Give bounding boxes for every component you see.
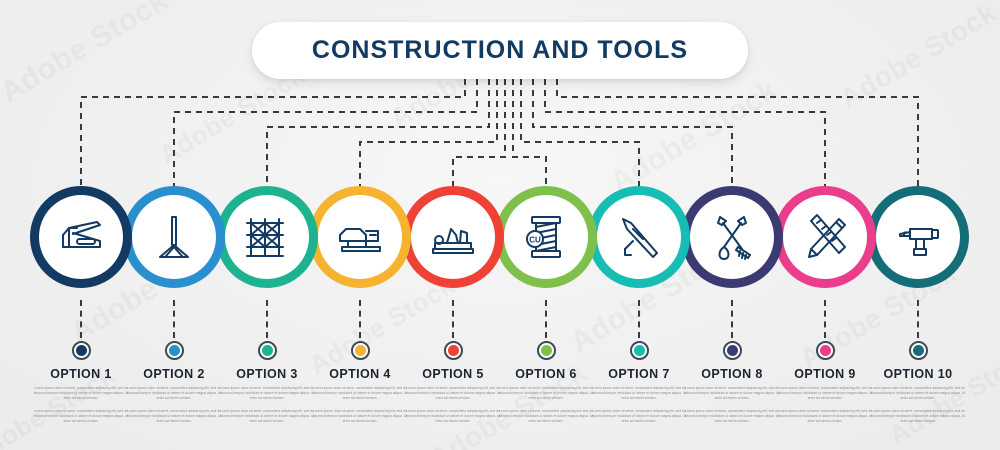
marker-stem — [731, 300, 733, 338]
option-label-3: OPTION 3 — [236, 367, 298, 381]
connector-to-node-10 — [557, 79, 918, 186]
description-paragraph: Lorem ipsum dolor sit amet, consectetur … — [870, 409, 966, 424]
status-marker-10[interactable] — [909, 341, 928, 360]
option-label-8: OPTION 8 — [701, 367, 763, 381]
description-paragraph: Lorem ipsum dolor sit amet, consectetur … — [498, 386, 594, 401]
description-column-2: Lorem ipsum dolor sit amet, consectetur … — [126, 386, 222, 433]
description-column-1: Lorem ipsum dolor sit amet, consectetur … — [33, 386, 129, 433]
description-column-4: Lorem ipsum dolor sit amet, consectetur … — [312, 386, 408, 433]
icon-node-4[interactable] — [309, 186, 411, 288]
cordless-drill-icon — [890, 209, 946, 265]
marker-stem — [545, 300, 547, 338]
description-paragraph: Lorem ipsum dolor sit amet, consectetur … — [312, 386, 408, 401]
status-marker-9[interactable] — [816, 341, 835, 360]
soldering-iron-icon — [611, 209, 667, 265]
option-label-6: OPTION 6 — [515, 367, 577, 381]
description-paragraph: Lorem ipsum dolor sit amet, consectetur … — [219, 409, 315, 424]
marker-stem — [638, 300, 640, 338]
icon-node-3[interactable] — [216, 186, 318, 288]
description-paragraph: Lorem ipsum dolor sit amet, consectetur … — [312, 409, 408, 424]
copper-wire-spool-icon: CU — [518, 209, 574, 265]
marker-stem — [173, 300, 175, 338]
status-marker-3[interactable] — [258, 341, 277, 360]
description-paragraph: Lorem ipsum dolor sit amet, consectetur … — [591, 409, 687, 424]
description-paragraph: Lorem ipsum dolor sit amet, consectetur … — [33, 386, 129, 401]
status-marker-6[interactable] — [537, 341, 556, 360]
icon-node-10[interactable] — [867, 186, 969, 288]
option-column-1: OPTION 1 — [33, 300, 129, 381]
description-column-10: Lorem ipsum dolor sit amet, consectetur … — [870, 386, 966, 433]
connector-to-node-3 — [267, 79, 489, 186]
status-marker-8[interactable] — [723, 341, 742, 360]
marker-stem — [452, 300, 454, 338]
marker-stem — [359, 300, 361, 338]
connector-to-node-9 — [545, 79, 825, 186]
connector-to-node-7 — [521, 79, 639, 186]
icon-node-9[interactable] — [774, 186, 876, 288]
status-marker-5[interactable] — [444, 341, 463, 360]
marker-stem — [80, 300, 82, 338]
marker-stem — [917, 300, 919, 338]
option-label-2: OPTION 2 — [143, 367, 205, 381]
description-paragraph: Lorem ipsum dolor sit amet, consectetur … — [591, 386, 687, 401]
description-column-9: Lorem ipsum dolor sit amet, consectetur … — [777, 386, 873, 433]
option-column-10: OPTION 10 — [870, 300, 966, 381]
shovel-and-rake-icon — [704, 209, 760, 265]
description-column-6: Lorem ipsum dolor sit amet, consectetur … — [498, 386, 594, 433]
svg-text:CU: CU — [529, 236, 541, 245]
description-column-3: Lorem ipsum dolor sit amet, consectetur … — [219, 386, 315, 433]
icon-node-7[interactable] — [588, 186, 690, 288]
description-paragraph: Lorem ipsum dolor sit amet, consectetur … — [498, 409, 594, 424]
option-column-3: OPTION 3 — [219, 300, 315, 381]
option-label-10: OPTION 10 — [884, 367, 953, 381]
option-column-8: OPTION 8 — [684, 300, 780, 381]
option-column-4: OPTION 4 — [312, 300, 408, 381]
staple-gun-icon — [53, 209, 109, 265]
option-label-1: OPTION 1 — [50, 367, 112, 381]
description-column-8: Lorem ipsum dolor sit amet, consectetur … — [684, 386, 780, 433]
description-paragraph: Lorem ipsum dolor sit amet, consectetur … — [126, 386, 222, 401]
icon-node-row: CU — [0, 186, 1000, 292]
connector-to-node-1 — [81, 79, 465, 186]
description-paragraph: Lorem ipsum dolor sit amet, consectetur … — [219, 386, 315, 401]
description-paragraph: Lorem ipsum dolor sit amet, consectetur … — [870, 386, 966, 401]
description-paragraph: Lorem ipsum dolor sit amet, consectetur … — [684, 386, 780, 401]
connector-to-node-2 — [174, 79, 477, 186]
option-column-5: OPTION 5 — [405, 300, 501, 381]
orbital-sander-icon — [332, 209, 388, 265]
option-label-5: OPTION 5 — [422, 367, 484, 381]
description-paragraph: Lorem ipsum dolor sit amet, consectetur … — [777, 386, 873, 401]
icon-node-1[interactable] — [30, 186, 132, 288]
description-paragraph: Lorem ipsum dolor sit amet, consectetur … — [33, 409, 129, 424]
icon-node-5[interactable] — [402, 186, 504, 288]
status-marker-2[interactable] — [165, 341, 184, 360]
option-column-7: OPTION 7 — [591, 300, 687, 381]
icon-node-8[interactable] — [681, 186, 783, 288]
description-paragraph: Lorem ipsum dolor sit amet, consectetur … — [126, 409, 222, 424]
option-column-2: OPTION 2 — [126, 300, 222, 381]
option-column-6: OPTION 6 — [498, 300, 594, 381]
icon-node-6[interactable]: CU — [495, 186, 597, 288]
floor-squeegee-icon — [146, 209, 202, 265]
infographic-stage: Adobe Stock Adobe Stock Adobe Stock Adob… — [0, 0, 1000, 450]
connector-to-node-6 — [513, 79, 546, 186]
connector-to-node-8 — [533, 79, 732, 186]
option-label-9: OPTION 9 — [794, 367, 856, 381]
description-column-7: Lorem ipsum dolor sit amet, consectetur … — [591, 386, 687, 433]
page-title: CONSTRUCTION AND TOOLS — [312, 36, 688, 65]
description-paragraph: Lorem ipsum dolor sit amet, consectetur … — [405, 386, 501, 401]
status-marker-7[interactable] — [630, 341, 649, 360]
marker-stem — [824, 300, 826, 338]
status-marker-1[interactable] — [72, 341, 91, 360]
option-column-9: OPTION 9 — [777, 300, 873, 381]
description-paragraph: Lorem ipsum dolor sit amet, consectetur … — [684, 409, 780, 424]
title-pill: CONSTRUCTION AND TOOLS — [252, 22, 748, 79]
description-column-5: Lorem ipsum dolor sit amet, consectetur … — [405, 386, 501, 433]
icon-node-2[interactable] — [123, 186, 225, 288]
scaffolding-icon — [239, 209, 295, 265]
option-label-4: OPTION 4 — [329, 367, 391, 381]
description-paragraph: Lorem ipsum dolor sit amet, consectetur … — [405, 409, 501, 424]
status-marker-4[interactable] — [351, 341, 370, 360]
ruler-and-pencil-icon — [797, 209, 853, 265]
option-label-7: OPTION 7 — [608, 367, 670, 381]
marker-stem — [266, 300, 268, 338]
hand-plane-icon — [425, 209, 481, 265]
description-paragraph: Lorem ipsum dolor sit amet, consectetur … — [777, 409, 873, 424]
